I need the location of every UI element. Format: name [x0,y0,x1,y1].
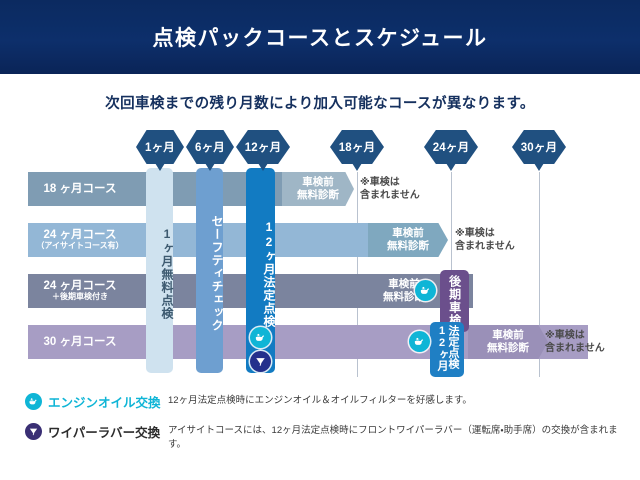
timeline-badge-pointer [446,163,456,171]
legend-item-description: アイサイトコースには、12ヶ月法定点検時にフロントワイパーラバー（運転席・助手席… [168,424,623,453]
legend-item-name: ワイパーラバー交換 [48,422,160,441]
infographic-root: 点検パックコースとスケジュール 次回車検までの残り月数により加入可能なコースが異… [0,0,640,480]
legend-item: エンジンオイル交換12ヶ月法定点検時にエンジンオイル＆オイルフィルターを好感しま… [0,392,640,414]
subtitle: 次回車検までの残り月数により加入可能なコースが異なります。 [0,92,640,113]
oil-icon [409,331,430,352]
pre-inspection-chip-line1: 車検前 [392,227,424,240]
timeline-month-badge: 6ヶ月 [186,130,234,164]
legend-item: ワイパーラバー交換アイサイトコースには、12ヶ月法定点検時にフロントワイパーラバ… [0,422,640,456]
pre-inspection-chip-line2: 無料診断 [387,240,429,253]
service-column-label: セーフティチェック [211,215,223,332]
timeline-month-label: 12ヶ月 [245,139,282,155]
timeline-month-label: 30ヶ月 [521,139,558,155]
pre-inspection-chip: 車検前無料診断 [468,325,548,359]
timeline-badge-pointer [352,163,362,171]
timeline-month-label: 1ヶ月 [145,139,175,155]
pre-inspection-chip: 車検前無料診断 [282,172,354,206]
legend-item-name: エンジンオイル交換 [48,392,161,411]
timeline-month-label: 18ヶ月 [339,139,376,155]
timeline-month-label: 24ヶ月 [433,139,470,155]
inspection-note: ※車検は 含まれません [360,176,420,202]
timeline-badge-pointer [534,163,544,171]
course-row-label-sub: （アイサイトコース有） [36,242,123,251]
service-column: 1ヶ月無料点検 [146,168,173,373]
legal-inspection-block: 法定点検12ヶ月 [430,322,464,377]
service-column: セーフティチェック [196,168,223,373]
oil-icon [250,327,271,348]
service-column-label: 1ヶ月無料点検 [161,227,173,320]
pre-inspection-chip-line1: 車検前 [492,329,524,342]
course-row-label-main: 30 ヶ月コース [44,336,117,348]
course-row-label: 24 ヶ月コース（アイサイトコース有） [28,223,132,257]
late-inspection-label: 後期車検 [448,275,460,327]
schedule-chart: 18 ヶ月コース24 ヶ月コース（アイサイトコース有）24 ヶ月コース＋後期車検… [0,130,640,380]
course-row-label: 24 ヶ月コース＋後期車検付き [28,274,132,308]
oil-icon [415,280,436,301]
timeline-month-badge: 24ヶ月 [424,130,478,164]
legal-inspection-label-a: 法定点検 [447,325,458,369]
pre-inspection-chip-line1: 車検前 [302,176,334,189]
inspection-note: ※車検は 含まれません [545,329,605,355]
course-row-label-main: 18 ヶ月コース [44,183,117,195]
pre-inspection-chip-line2: 無料診断 [297,189,339,202]
timeline-month-badge: 12ヶ月 [236,130,290,164]
legend-item-description: 12ヶ月法定点検時にエンジンオイル＆オイルフィルターを好感します。 [168,394,623,408]
wiper-icon [25,423,42,440]
oil-icon [25,393,42,410]
timeline-month-label: 6ヶ月 [195,139,225,155]
pre-inspection-chip-line2: 無料診断 [487,342,529,355]
inspection-note: ※車検は 含まれません [455,227,515,253]
legend: エンジンオイル交換12ヶ月法定点検時にエンジンオイル＆オイルフィルターを好感しま… [0,392,640,464]
timeline-month-badge: 30ヶ月 [512,130,566,164]
wiper-icon [250,351,271,372]
timeline-month-badge: 18ヶ月 [330,130,384,164]
course-row-label-main: 24 ヶ月コース [44,280,117,292]
service-column-label: 12ヶ月法定点検 [263,220,275,328]
course-row-label: 30 ヶ月コース [28,325,132,359]
course-row-label: 18 ヶ月コース [28,172,132,206]
timeline-month-badge: 1ヶ月 [136,130,184,164]
course-row-label-main: 24 ヶ月コース [44,229,117,241]
page-title: 点検パックコースとスケジュール [0,0,640,74]
page-header: 点検パックコースとスケジュール [0,0,640,74]
legal-inspection-label-b: 12ヶ月 [436,325,447,371]
pre-inspection-chip: 車検前無料診断 [368,223,448,257]
course-row-label-sub: ＋後期車検付き [52,293,108,302]
